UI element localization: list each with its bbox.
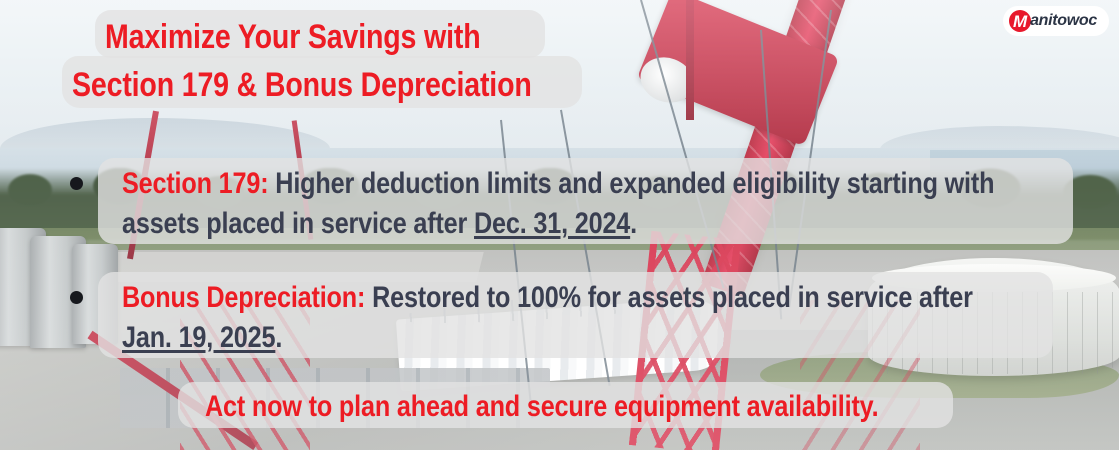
manitowoc-wordmark: anitowoc [1030,12,1097,30]
bullet-marker [70,291,83,304]
bullet-2-line1-rest: Restored to 100% for assets placed in se… [365,281,973,314]
manitowoc-m-mark-icon: M [1009,10,1031,32]
bullet-1-term: Section 179: [122,167,268,200]
bullet-2-line1: Bonus Depreciation: Restored to 100% for… [122,281,973,315]
bullet-1-line1: Section 179: Higher deduction limits and… [122,167,994,201]
bullet-1-line2-pre: assets placed in service after [122,207,474,240]
manitowoc-logo: M anitowoc [1003,6,1109,36]
bullet-2-date: Jan. 19, 2025 [122,321,275,354]
headline-line2: Section 179 & Bonus Depreciation [72,66,532,105]
bullet-2-term: Bonus Depreciation: [122,281,365,314]
bullet-2-line2: Jan. 19, 2025. [122,321,282,355]
bullet-1-line2: assets placed in service after Dec. 31, … [122,207,637,241]
headline-line1: Maximize Your Savings with [105,18,480,57]
promo-banner: Maximize Your Savings with Section 179 &… [0,0,1119,450]
bullet-1-line2-post: . [630,207,637,240]
bullet-1-line1-rest: Higher deduction limits and expanded eli… [268,167,994,200]
cta-text: Act now to plan ahead and secure equipme… [205,390,878,424]
bullet-2-line2-post: . [275,321,282,354]
bullet-marker [70,177,83,190]
bullet-1-date: Dec. 31, 2024 [474,207,630,240]
